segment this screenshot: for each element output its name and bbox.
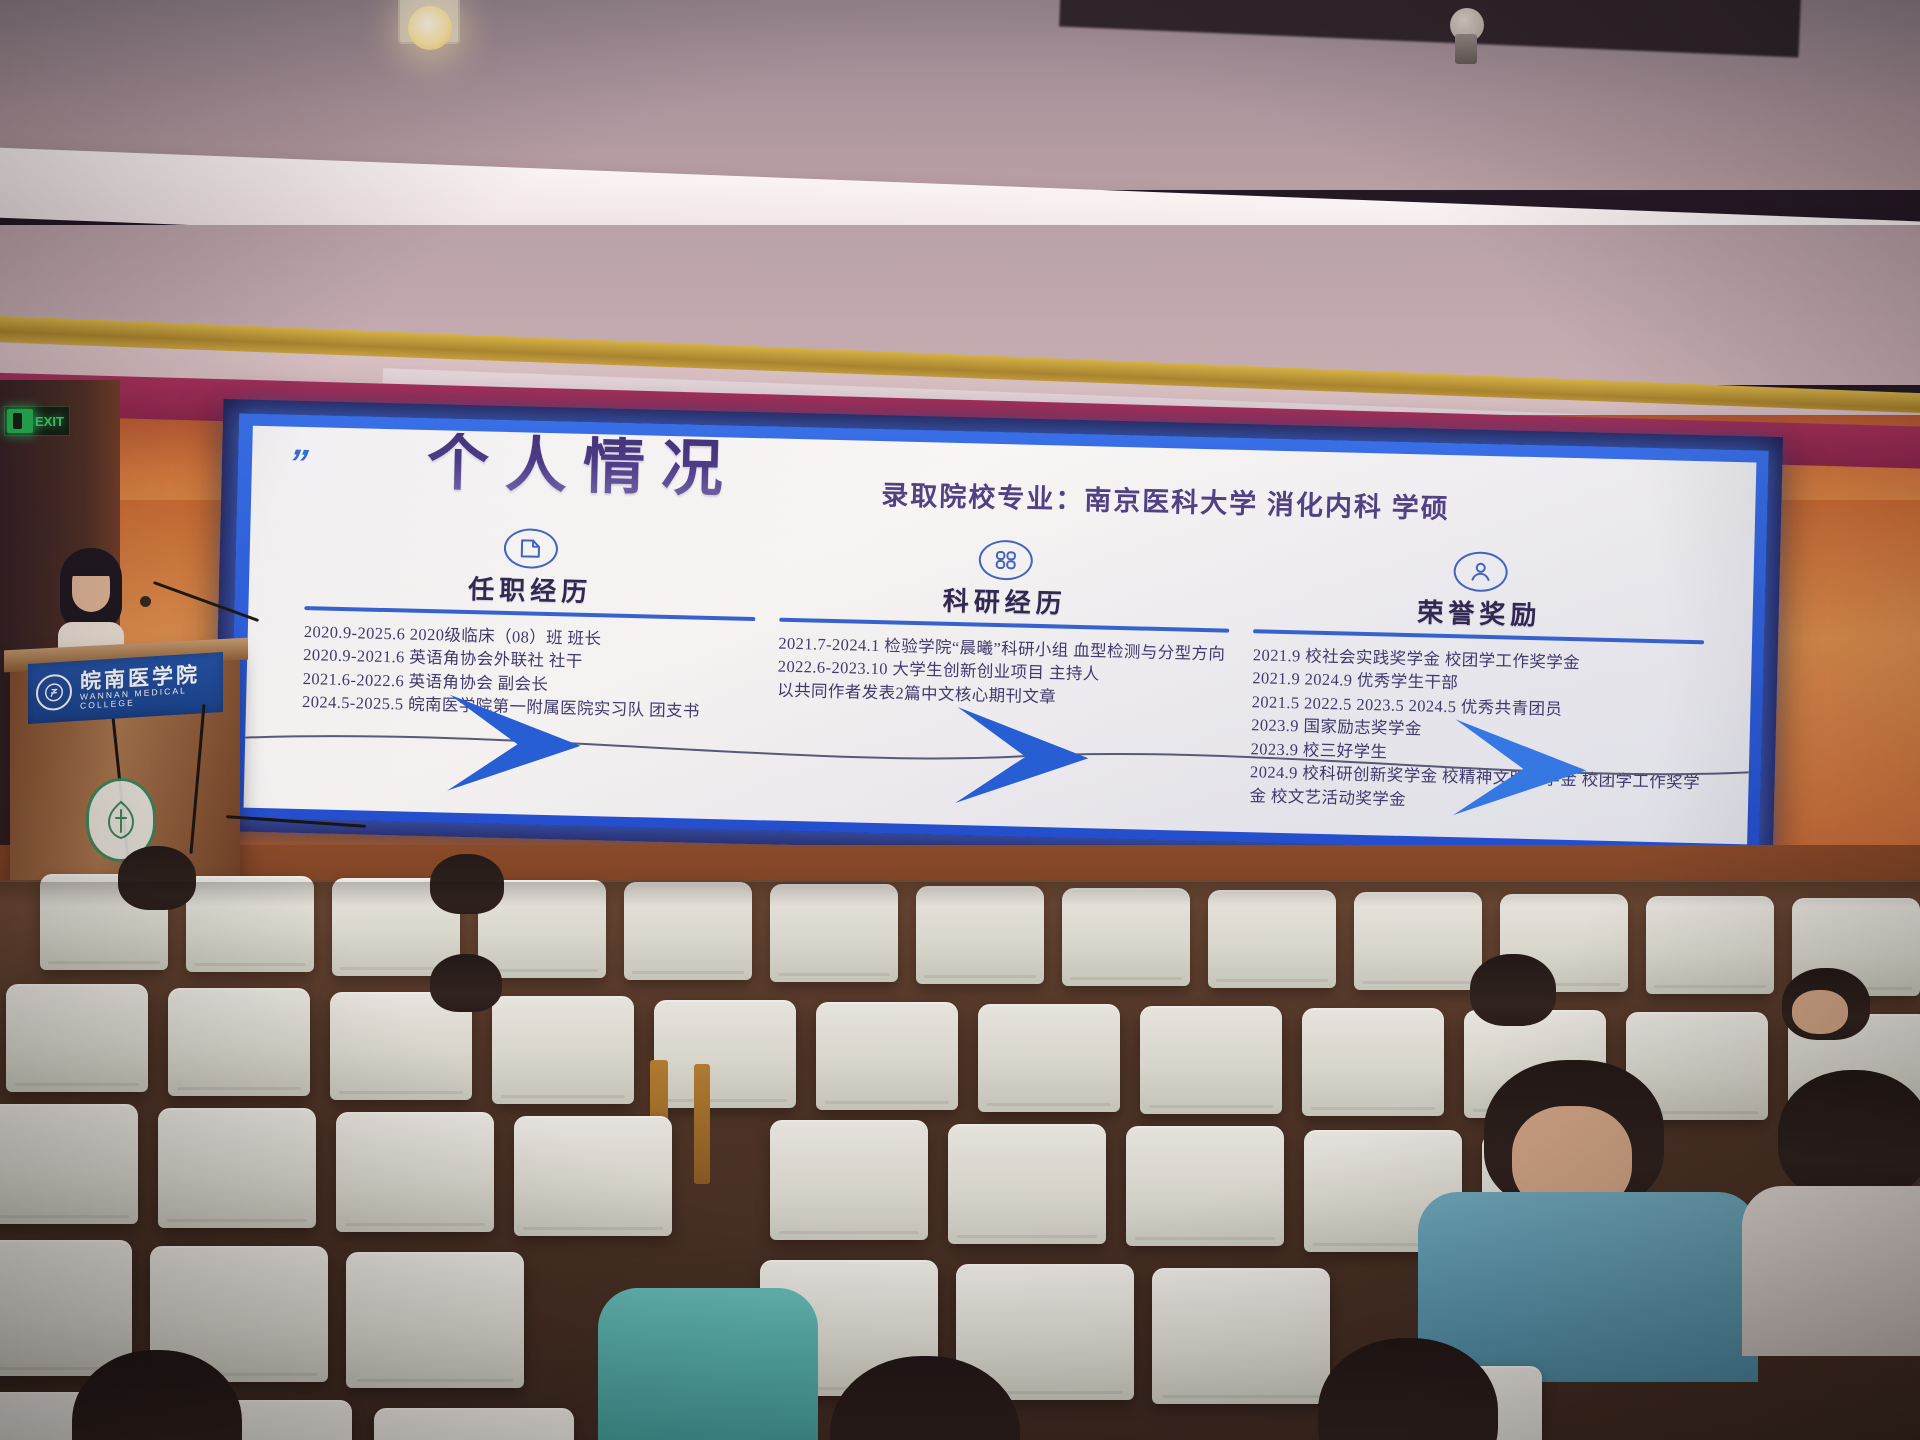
presentation-slide: ” 个人情况 录取院校专业：南京医科大学 消化内科 学硕 [244,426,1757,845]
seat [1140,1006,1282,1114]
person-icon [1453,551,1508,592]
seat [158,1108,316,1228]
audience-shoulders [598,1288,818,1440]
seat [492,996,634,1104]
seat [168,988,310,1096]
audience-face [1792,990,1848,1034]
microphone-head-icon [140,596,151,607]
seat [1152,1268,1330,1404]
seat-armrest [694,1064,710,1184]
podium-plate-text: 皖南医学院 WANNAN MEDICAL COLLEGE [80,663,215,711]
seat [978,1004,1120,1112]
lecture-hall-photo: EXIT ” 个人情况 录取院校专业：南京医科大学 消化内科 学硕 [0,0,1920,1440]
audience-head-foreground [1778,1070,1920,1200]
ceiling-spotlight-bulb [408,6,452,50]
audience-shoulders [1418,1192,1758,1382]
seat [1354,892,1482,990]
podium-name-plate: 皖南医学院 WANNAN MEDICAL COLLEGE [28,652,223,724]
slide-title: 个人情况 [426,432,739,502]
seat [514,1116,672,1236]
seat [770,1120,928,1240]
research-grid-icon [978,540,1033,581]
presenter-fringe [66,554,116,576]
quote-mark-decoration: ” [280,443,310,486]
audience-head [1470,954,1556,1026]
seat [1646,896,1774,994]
seat [336,1112,494,1232]
university-logo-icon [36,673,72,711]
auditorium-seating [0,880,1920,1440]
seat [374,1408,574,1440]
seat [948,1124,1106,1244]
seat [816,1002,958,1110]
audience-head [430,954,502,1012]
seat [1302,1008,1444,1116]
seat [654,1000,796,1108]
seat [0,1240,132,1376]
audience-shoulders [1742,1186,1920,1356]
seating-row-shadow [0,882,1920,906]
led-screen: ” 个人情况 录取院校专业：南京医科大学 消化内科 学硕 [213,399,1783,869]
running-man-exit-icon [7,409,33,433]
sprinkler-head-icon [1455,34,1477,64]
document-icon [504,528,559,569]
led-screen-bezel-glow: ” 个人情况 录取院校专业：南京医科大学 消化内科 学硕 [229,413,1768,854]
seat [6,984,148,1092]
slide-subtitle-admission: 录取院校专业：南京医科大学 消化内科 学硕 [881,473,1450,526]
seat [1126,1126,1284,1246]
seat [346,1252,524,1388]
seat [0,1104,138,1224]
exit-sign-label: EXIT [35,414,64,429]
exit-sign: EXIT [4,406,70,436]
